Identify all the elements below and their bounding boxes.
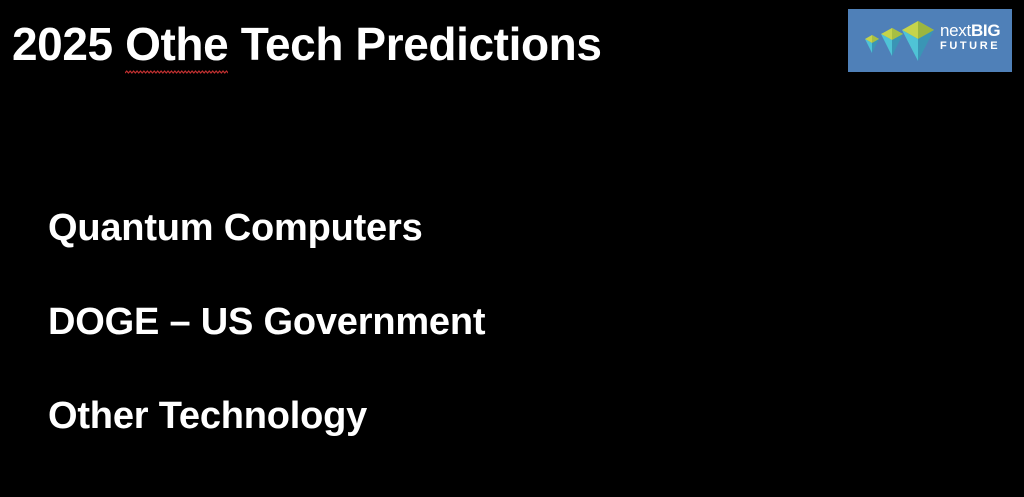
body-line-quantum-computers: Quantum Computers	[48, 206, 908, 300]
logo-text-next: next	[940, 21, 971, 40]
body-line-other-technology: Other Technology	[48, 394, 908, 438]
title-misspelled-word: Othe	[125, 18, 228, 71]
body-line-doge-us-government: DOGE – US Government	[48, 300, 908, 394]
logo-line-future: FUTURE	[940, 40, 1012, 53]
logo-wordmark: nextBIG FUTURE	[940, 22, 1012, 53]
title-text-before: 2025	[12, 18, 125, 70]
slide-title: 2025 Othe Tech Predictions	[12, 18, 602, 71]
logo-text-big: BIG	[971, 21, 1000, 40]
spellcheck-squiggle-underline	[125, 70, 228, 74]
slide-body: Quantum Computers DOGE – US Government O…	[48, 206, 908, 438]
title-misspelled-text: Othe	[125, 18, 228, 70]
presentation-slide: 2025 Othe Tech Predictions Quantum Compu…	[0, 0, 1024, 497]
three-ascending-diamonds-icon	[852, 13, 940, 68]
logo-line-nextbig: nextBIG	[940, 22, 1012, 40]
nextbigfuture-logo: nextBIG FUTURE	[848, 9, 1012, 72]
title-text-after: Tech Predictions	[228, 18, 601, 70]
